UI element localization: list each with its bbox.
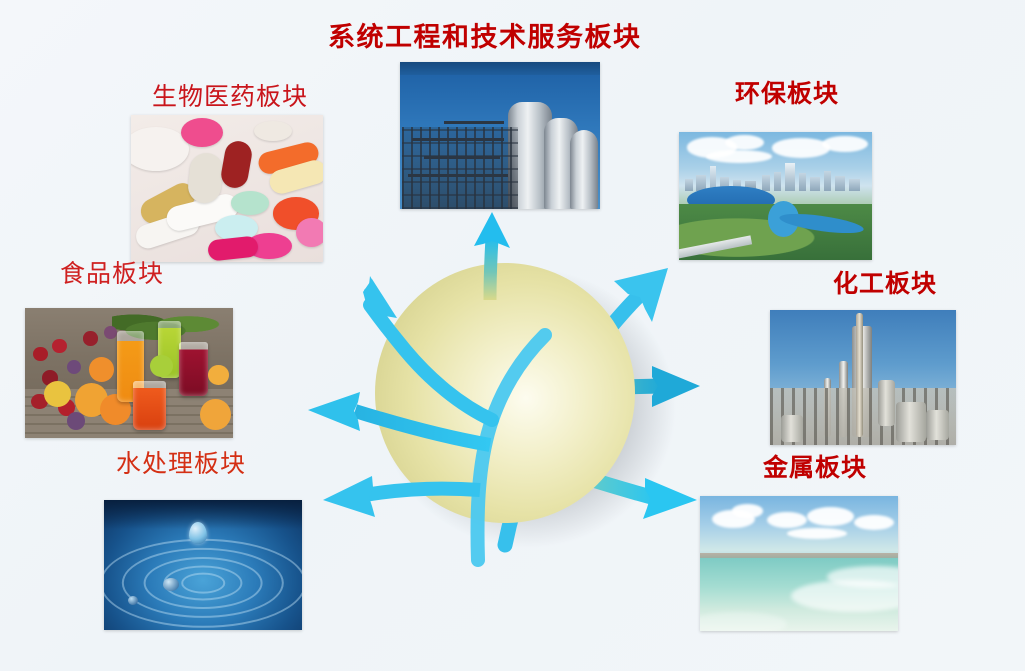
- label-food: 食品板块: [60, 262, 164, 287]
- label-chemical: 化工板块: [833, 272, 937, 297]
- label-system-engineering: 系统工程和技术服务板块: [328, 24, 642, 51]
- label-water-treatment: 水处理板块: [116, 452, 246, 477]
- industrial-plant-photo: [400, 62, 600, 209]
- diagram-canvas: 系统工程和技术服务板块 生物医药板块 食品板块 水处理板块 环保板块 化工板块 …: [0, 0, 1025, 671]
- label-metal: 金属板块: [763, 456, 867, 481]
- label-biomedicine: 生物医药板块: [152, 85, 308, 110]
- chemical-refinery-photo: [770, 310, 956, 445]
- label-environmental-protection: 环保板块: [735, 82, 839, 107]
- city-skyline-park-photo: [679, 132, 872, 260]
- water-droplet-photo: [104, 500, 302, 630]
- salt-lagoon-photo: [700, 496, 898, 631]
- pharmaceutical-pills-photo: [131, 115, 323, 262]
- fruit-juices-photo: [25, 308, 233, 438]
